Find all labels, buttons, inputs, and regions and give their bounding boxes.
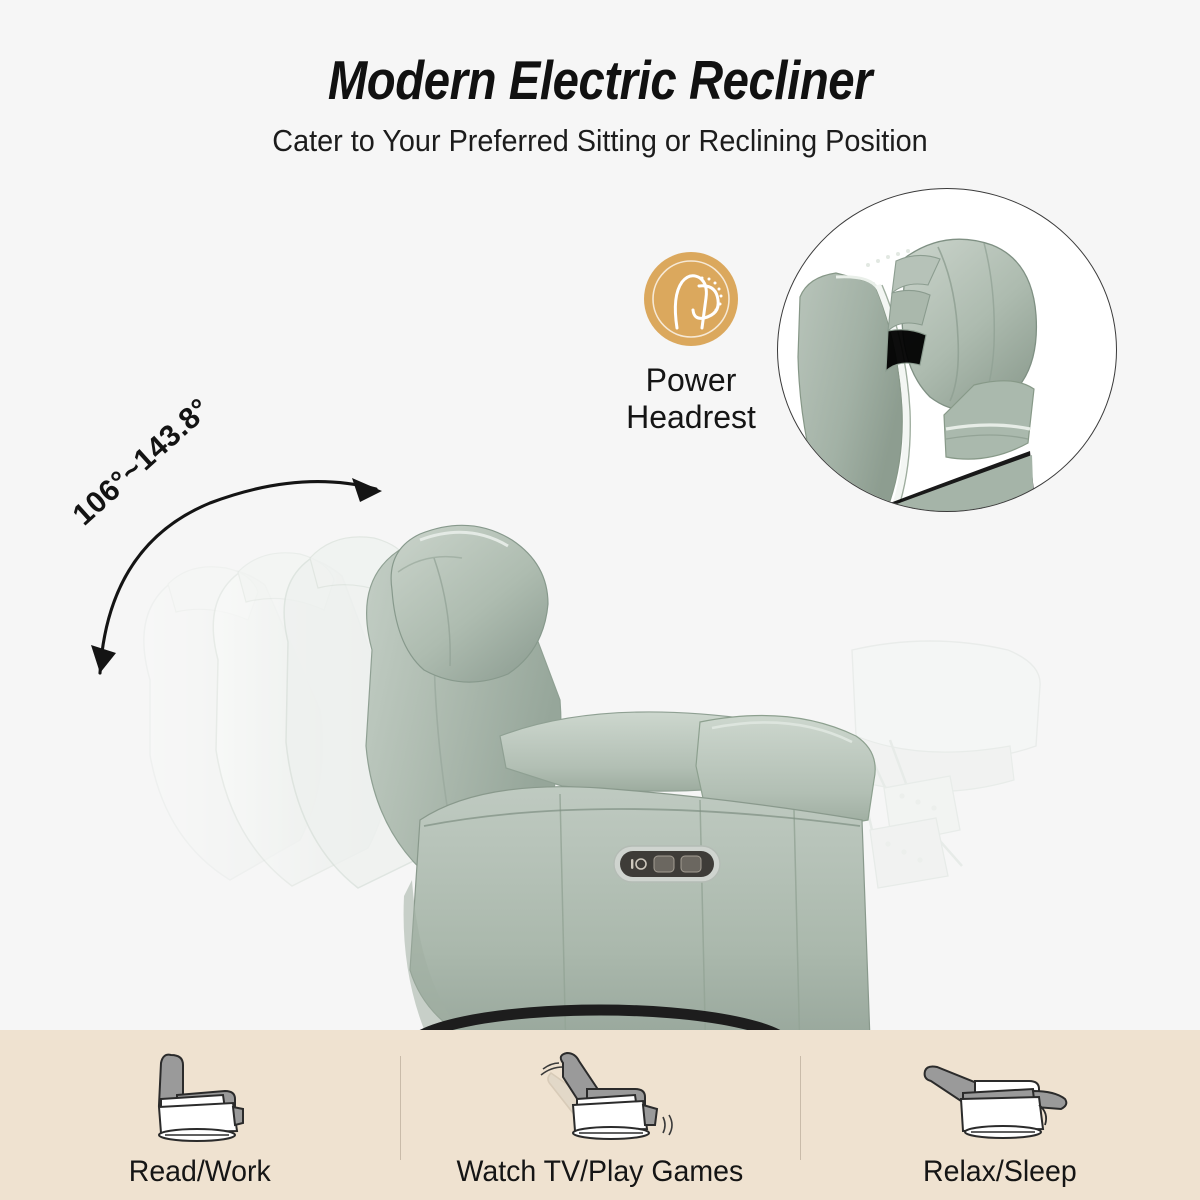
ghost-footrest-extended	[852, 641, 1040, 888]
product-stage: 106°~143.8° Power Headrest	[0, 180, 1200, 1030]
chair-flat-icon	[915, 1047, 1085, 1143]
chair-upright-icon	[125, 1047, 275, 1143]
chair-reclined-icon	[515, 1047, 685, 1143]
page-title: Modern Electric Recliner	[84, 52, 1116, 110]
feature-relax-sleep: Relax/Sleep	[800, 1030, 1200, 1200]
feature-watch-tv-play-games: Watch TV/Play Games	[400, 1030, 800, 1200]
headrest-closeup-inset	[777, 188, 1117, 512]
chair-side-panel	[410, 787, 870, 1030]
feature-read-work: Read/Work	[0, 1030, 400, 1200]
feature-bar: Read/Work	[0, 1030, 1200, 1200]
headrest-closeup-image	[778, 189, 1117, 512]
page-subtitle: Cater to Your Preferred Sitting or Recli…	[42, 124, 1158, 158]
feature-label-watch-tv-play-games: Watch TV/Play Games	[457, 1155, 744, 1189]
recline-angle-annotation: 106°~143.8°	[60, 445, 420, 705]
power-headrest-badge: Power Headrest	[586, 252, 796, 437]
recliner-main-body	[366, 525, 875, 1030]
badge-label-line1: Power	[646, 362, 737, 398]
headrest-glyph-icon	[644, 252, 738, 346]
feature-label-read-work: Read/Work	[129, 1155, 271, 1189]
power-control-panel	[614, 846, 720, 882]
badge-label-line2: Headrest	[626, 399, 756, 435]
feature-label-relax-sleep: Relax/Sleep	[923, 1155, 1077, 1189]
header: Modern Electric Recliner Cater to Your P…	[0, 0, 1200, 180]
power-headrest-icon	[644, 252, 738, 346]
power-headrest-label: Power Headrest	[586, 362, 796, 437]
